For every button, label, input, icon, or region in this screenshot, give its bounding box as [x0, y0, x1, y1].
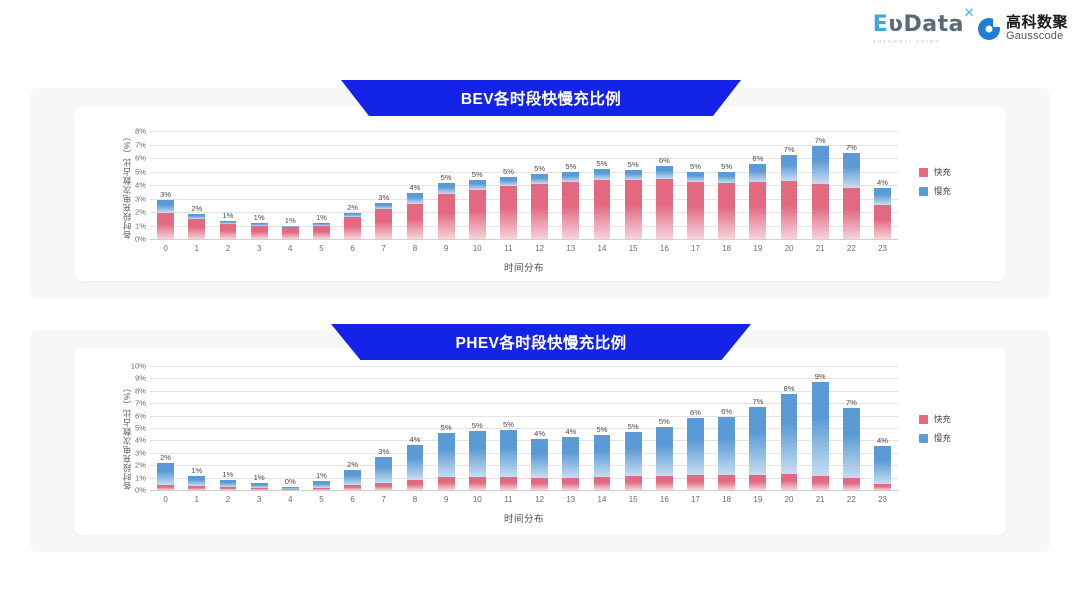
- bar-segment-fast-charge[interactable]: [874, 205, 891, 239]
- bar-column[interactable]: 1%2: [212, 366, 243, 490]
- x-tick-label: 1: [195, 244, 199, 253]
- bar-value-label: 1%: [285, 216, 296, 225]
- stacked-bar[interactable]: 5%: [656, 427, 673, 490]
- stacked-bar[interactable]: 5%: [438, 183, 455, 239]
- bar-column[interactable]: 4%23: [867, 366, 898, 490]
- bar-column[interactable]: 5%18: [711, 131, 742, 239]
- phev-bar-group: 2%01%11%21%30%41%52%63%74%85%95%105%114%…: [150, 366, 898, 490]
- stacked-bar[interactable]: 5%: [469, 431, 486, 490]
- bar-value-label: 3%: [378, 193, 389, 202]
- bar-segment-fast-charge[interactable]: [282, 489, 299, 490]
- bar-segment-slow-charge[interactable]: [749, 407, 766, 475]
- bar-segment-slow-charge[interactable]: [375, 457, 392, 482]
- slide-canvas: EʋData✕ shanghai china 高科数聚 Gausscode 各时…: [0, 0, 1080, 608]
- bar-segment-fast-charge[interactable]: [812, 184, 829, 239]
- x-tick-label: 19: [753, 244, 762, 253]
- bar-value-label: 4%: [534, 429, 545, 438]
- bar-column[interactable]: 2%1: [181, 131, 212, 239]
- bar-segment-fast-charge[interactable]: [220, 224, 237, 239]
- x-tick-label: 23: [878, 495, 887, 504]
- bar-segment-fast-charge[interactable]: [843, 478, 860, 490]
- phev-title-text: PHEV各时段快慢充比例: [455, 331, 626, 353]
- bar-segment-fast-charge[interactable]: [251, 488, 268, 490]
- bar-value-label: 4%: [877, 436, 888, 445]
- bar-segment-slow-charge[interactable]: [188, 476, 205, 487]
- bar-column[interactable]: 5%14: [586, 366, 617, 490]
- evdata-word-b: ʋData: [888, 12, 964, 37]
- x-tick-label: 13: [566, 244, 575, 253]
- bar-segment-fast-charge[interactable]: [718, 475, 735, 490]
- bar-segment-slow-charge[interactable]: [500, 177, 517, 186]
- bar-segment-fast-charge[interactable]: [313, 226, 330, 240]
- x-tick-label: 21: [816, 244, 825, 253]
- bar-column[interactable]: 5%11: [493, 366, 524, 490]
- x-tick-label: 12: [535, 495, 544, 504]
- gausscode-wordmark: 高科数聚 Gausscode: [1006, 15, 1068, 42]
- bar-segment-fast-charge[interactable]: [531, 184, 548, 239]
- bar-segment-fast-charge[interactable]: [500, 477, 517, 490]
- stacked-bar[interactable]: 5%: [594, 169, 611, 239]
- legend-item[interactable]: 慢充: [919, 432, 951, 444]
- bar-segment-fast-charge[interactable]: [687, 475, 704, 490]
- stacked-bar[interactable]: 6%: [718, 417, 735, 490]
- bar-column[interactable]: 6%16: [649, 131, 680, 239]
- bar-column[interactable]: 5%13: [555, 131, 586, 239]
- bar-segment-slow-charge[interactable]: [843, 153, 860, 188]
- bar-value-label: 5%: [441, 173, 452, 182]
- bar-column[interactable]: 6%19: [742, 131, 773, 239]
- bev-y-tick-label: 3%: [135, 194, 146, 203]
- phev-gridline: 0%: [150, 490, 898, 491]
- bev-y-tick-label: 2%: [135, 208, 146, 217]
- legend-swatch-icon: [919, 187, 928, 196]
- bar-segment-slow-charge[interactable]: [313, 481, 330, 488]
- bar-value-label: 2%: [160, 453, 171, 462]
- legend-swatch-icon: [919, 434, 928, 443]
- bar-segment-fast-charge[interactable]: [438, 477, 455, 490]
- bar-segment-slow-charge[interactable]: [718, 172, 735, 183]
- bar-segment-slow-charge[interactable]: [812, 146, 829, 184]
- stacked-bar[interactable]: 5%: [562, 172, 579, 240]
- stacked-bar[interactable]: 4%: [874, 188, 891, 239]
- x-tick-label: 7: [382, 244, 386, 253]
- x-tick-label: 11: [504, 495, 512, 504]
- bar-segment-fast-charge[interactable]: [157, 213, 174, 239]
- bar-value-label: 1%: [222, 470, 233, 479]
- phev-legend: 快充慢充: [919, 413, 951, 444]
- bar-segment-fast-charge[interactable]: [407, 204, 424, 239]
- bar-column[interactable]: 1%3: [244, 366, 275, 490]
- bar-segment-fast-charge[interactable]: [625, 180, 642, 239]
- x-tick-label: 6: [350, 495, 354, 504]
- bar-segment-fast-charge[interactable]: [594, 180, 611, 239]
- x-tick-label: 20: [785, 244, 794, 253]
- x-tick-label: 0: [163, 244, 167, 253]
- bar-value-label: 5%: [721, 162, 732, 171]
- bar-column[interactable]: 8%20: [773, 366, 804, 490]
- x-tick-label: 5: [319, 495, 323, 504]
- x-tick-label: 10: [473, 244, 482, 253]
- bar-column[interactable]: 1%5: [306, 131, 337, 239]
- gausscode-name-cn: 高科数聚: [1006, 15, 1068, 31]
- stacked-bar[interactable]: 5%: [594, 435, 611, 490]
- stacked-bar[interactable]: 5%: [438, 433, 455, 490]
- bar-segment-fast-charge[interactable]: [656, 476, 673, 490]
- x-tick-label: 22: [847, 244, 856, 253]
- legend-label: 快充: [934, 413, 951, 425]
- bar-value-label: 8%: [784, 384, 795, 393]
- bev-chart-card: 各时段充电次数占比（%）8%7%6%5%4%3%2%1%0%3%02%11%21…: [74, 106, 1006, 281]
- bar-column[interactable]: 1%4: [275, 131, 306, 239]
- bar-column[interactable]: 6%18: [711, 366, 742, 490]
- bar-segment-fast-charge[interactable]: [656, 179, 673, 239]
- bar-segment-fast-charge[interactable]: [438, 194, 455, 239]
- stacked-bar[interactable]: 4%: [531, 439, 548, 490]
- bar-segment-fast-charge[interactable]: [749, 475, 766, 491]
- bar-value-label: 2%: [347, 203, 358, 212]
- bar-column[interactable]: 5%12: [524, 131, 555, 239]
- bar-segment-fast-charge[interactable]: [749, 182, 766, 239]
- bar-value-label: 5%: [441, 423, 452, 432]
- evdata-x-icon: ✕: [964, 7, 975, 20]
- stacked-bar[interactable]: 1%: [251, 483, 268, 490]
- bar-segment-fast-charge[interactable]: [625, 476, 642, 490]
- bar-segment-fast-charge[interactable]: [874, 484, 891, 490]
- bar-segment-fast-charge[interactable]: [282, 227, 299, 239]
- stacked-bar[interactable]: 1%: [220, 221, 237, 239]
- bar-segment-slow-charge[interactable]: [656, 166, 673, 179]
- bar-segment-fast-charge[interactable]: [781, 181, 798, 239]
- bar-segment-fast-charge[interactable]: [562, 182, 579, 239]
- bar-column[interactable]: 6%17: [680, 366, 711, 490]
- bar-column[interactable]: 5%9: [431, 131, 462, 239]
- bar-column[interactable]: 3%0: [150, 131, 181, 239]
- bev-legend: 快充慢充: [919, 166, 951, 197]
- bar-value-label: 6%: [752, 154, 763, 163]
- stacked-bar[interactable]: 8%: [781, 394, 798, 490]
- bar-column[interactable]: 5%17: [680, 131, 711, 239]
- bar-segment-slow-charge[interactable]: [749, 164, 766, 182]
- bar-value-label: 6%: [659, 156, 670, 165]
- stacked-bar[interactable]: 5%: [687, 172, 704, 240]
- x-tick-label: 20: [785, 495, 794, 504]
- x-tick-label: 10: [473, 495, 482, 504]
- bar-value-label: 6%: [721, 407, 732, 416]
- bar-segment-slow-charge[interactable]: [687, 172, 704, 183]
- bar-column[interactable]: 5%10: [462, 131, 493, 239]
- stacked-bar[interactable]: 1%: [220, 480, 237, 490]
- bar-segment-slow-charge[interactable]: [656, 427, 673, 476]
- bev-chart: 各时段充电次数占比（%）8%7%6%5%4%3%2%1%0%3%02%11%21…: [74, 106, 1006, 281]
- bar-column[interactable]: 2%6: [337, 366, 368, 490]
- bar-column[interactable]: 5%15: [618, 366, 649, 490]
- bar-value-label: 3%: [160, 190, 171, 199]
- legend-item[interactable]: 快充: [919, 413, 951, 425]
- stacked-bar[interactable]: 5%: [469, 180, 486, 239]
- phev-y-tick-label: 2%: [135, 461, 146, 470]
- bar-segment-slow-charge[interactable]: [438, 433, 455, 477]
- legend-label: 慢充: [934, 432, 951, 444]
- stacked-bar[interactable]: 4%: [407, 193, 424, 239]
- bar-value-label: 2%: [191, 204, 202, 213]
- stacked-bar[interactable]: 0%: [282, 487, 299, 490]
- legend-label: 慢充: [934, 185, 951, 197]
- bar-segment-slow-charge[interactable]: [874, 446, 891, 484]
- bar-column[interactable]: 3%7: [368, 131, 399, 239]
- bar-segment-slow-charge[interactable]: [781, 155, 798, 181]
- bar-segment-fast-charge[interactable]: [407, 480, 424, 490]
- stacked-bar[interactable]: 9%: [812, 382, 829, 490]
- bar-segment-slow-charge[interactable]: [874, 188, 891, 204]
- bev-y-tick-label: 0%: [135, 235, 146, 244]
- bar-column[interactable]: 9%21: [805, 366, 836, 490]
- bar-column[interactable]: 7%22: [836, 131, 867, 239]
- bar-segment-fast-charge[interactable]: [718, 183, 735, 239]
- stacked-bar[interactable]: 3%: [375, 457, 392, 490]
- bar-column[interactable]: 2%0: [150, 366, 181, 490]
- bar-value-label: 5%: [472, 170, 483, 179]
- x-tick-label: 8: [413, 495, 417, 504]
- bar-segment-slow-charge[interactable]: [344, 470, 361, 485]
- stacked-bar[interactable]: 2%: [344, 213, 361, 239]
- phev-y-tick-label: 7%: [135, 399, 146, 408]
- bar-segment-fast-charge[interactable]: [812, 476, 829, 490]
- bar-segment-slow-charge[interactable]: [157, 200, 174, 213]
- bar-column[interactable]: 1%3: [244, 131, 275, 239]
- stacked-bar[interactable]: 3%: [375, 203, 392, 239]
- stacked-bar[interactable]: 5%: [500, 177, 517, 239]
- bar-segment-slow-charge[interactable]: [157, 463, 174, 485]
- x-tick-label: 13: [566, 495, 575, 504]
- x-tick-label: 2: [226, 244, 230, 253]
- bar-column[interactable]: 0%4: [275, 366, 306, 490]
- bar-value-label: 1%: [316, 471, 327, 480]
- x-tick-label: 14: [598, 244, 607, 253]
- bar-segment-fast-charge[interactable]: [843, 188, 860, 239]
- bar-column[interactable]: 5%14: [586, 131, 617, 239]
- legend-item[interactable]: 快充: [919, 166, 951, 178]
- stacked-bar[interactable]: 4%: [562, 437, 579, 490]
- stacked-bar[interactable]: 2%: [157, 463, 174, 490]
- bar-value-label: 1%: [191, 466, 202, 475]
- stacked-bar[interactable]: 7%: [749, 407, 766, 490]
- bar-value-label: 5%: [628, 160, 639, 169]
- bev-gridline: 0%: [150, 239, 898, 240]
- phev-y-axis-title: 各时段充电次数占比（%）: [121, 366, 133, 490]
- bar-segment-slow-charge[interactable]: [625, 432, 642, 477]
- x-tick-label: 5: [319, 244, 323, 253]
- bar-segment-fast-charge[interactable]: [344, 485, 361, 490]
- bar-segment-slow-charge[interactable]: [469, 431, 486, 477]
- bar-value-label: 5%: [659, 417, 670, 426]
- bar-value-label: 4%: [877, 178, 888, 187]
- bar-value-label: 7%: [752, 397, 763, 406]
- bar-segment-fast-charge[interactable]: [594, 477, 611, 490]
- stacked-bar[interactable]: 6%: [656, 166, 673, 239]
- x-tick-label: 2: [226, 495, 230, 504]
- bar-segment-slow-charge[interactable]: [438, 183, 455, 194]
- evdata-tagline: shanghai china: [873, 39, 941, 44]
- x-tick-label: 19: [753, 495, 762, 504]
- stacked-bar[interactable]: 5%: [500, 430, 517, 490]
- stacked-bar[interactable]: 2%: [344, 470, 361, 490]
- bar-segment-fast-charge[interactable]: [220, 487, 237, 490]
- bar-value-label: 2%: [347, 460, 358, 469]
- gausscode-logo: 高科数聚 Gausscode: [978, 15, 1068, 42]
- bar-segment-fast-charge[interactable]: [251, 226, 268, 239]
- bar-column[interactable]: 2%6: [337, 131, 368, 239]
- bar-column[interactable]: 4%8: [399, 131, 430, 239]
- bar-column[interactable]: 7%20: [773, 131, 804, 239]
- phev-y-tick-label: 0%: [135, 486, 146, 495]
- bar-segment-fast-charge[interactable]: [781, 474, 798, 490]
- bar-value-label: 7%: [846, 143, 857, 152]
- bar-value-label: 7%: [815, 136, 826, 145]
- bar-segment-slow-charge[interactable]: [718, 417, 735, 475]
- legend-swatch-icon: [919, 415, 928, 424]
- bar-value-label: 3%: [378, 447, 389, 456]
- bar-value-label: 1%: [254, 473, 265, 482]
- bar-segment-slow-charge[interactable]: [562, 437, 579, 477]
- stacked-bar[interactable]: 5%: [718, 172, 735, 240]
- bar-column[interactable]: 7%19: [742, 366, 773, 490]
- bar-value-label: 5%: [565, 162, 576, 171]
- bar-column[interactable]: 1%5: [306, 366, 337, 490]
- bar-value-label: 1%: [222, 211, 233, 220]
- bar-segment-slow-charge[interactable]: [407, 445, 424, 480]
- bar-segment-fast-charge[interactable]: [562, 478, 579, 490]
- stacked-bar[interactable]: 4%: [407, 445, 424, 491]
- bev-title-banner: BEV各时段快慢充比例: [341, 80, 741, 116]
- bar-segment-slow-charge[interactable]: [843, 408, 860, 477]
- bar-segment-fast-charge[interactable]: [375, 209, 392, 239]
- bar-segment-fast-charge[interactable]: [469, 477, 486, 490]
- bev-bar-group: 3%02%11%21%31%41%52%63%74%85%95%105%115%…: [150, 131, 898, 239]
- bar-segment-slow-charge[interactable]: [594, 169, 611, 179]
- stacked-bar[interactable]: 7%: [781, 155, 798, 239]
- stacked-bar[interactable]: 7%: [812, 146, 829, 239]
- bar-value-label: 7%: [784, 145, 795, 154]
- phev-y-tick-label: 8%: [135, 386, 146, 395]
- phev-y-tick-label: 3%: [135, 448, 146, 457]
- bar-segment-fast-charge[interactable]: [531, 478, 548, 490]
- stacked-bar[interactable]: 5%: [625, 170, 642, 239]
- bar-segment-slow-charge[interactable]: [531, 439, 548, 478]
- x-tick-label: 7: [382, 495, 386, 504]
- bev-y-tick-label: 8%: [135, 127, 146, 136]
- stacked-bar[interactable]: 2%: [188, 214, 205, 239]
- x-tick-label: 0: [163, 495, 167, 504]
- phev-chart: 各时段充电次数占比（%）10%9%8%7%6%5%4%3%2%1%0%2%01%…: [74, 348, 1006, 535]
- bar-segment-slow-charge[interactable]: [531, 174, 548, 184]
- bar-value-label: 0%: [285, 477, 296, 486]
- bar-column[interactable]: 5%15: [618, 131, 649, 239]
- bar-segment-slow-charge[interactable]: [469, 180, 486, 190]
- bar-column[interactable]: 4%13: [555, 366, 586, 490]
- bar-segment-slow-charge[interactable]: [594, 435, 611, 477]
- bar-segment-fast-charge[interactable]: [375, 483, 392, 490]
- bev-x-axis-title: 时间分布: [150, 260, 898, 274]
- bar-segment-slow-charge[interactable]: [407, 193, 424, 204]
- bev-y-tick-label: 4%: [135, 181, 146, 190]
- phev-y-tick-label: 1%: [135, 473, 146, 482]
- bar-segment-fast-charge[interactable]: [313, 488, 330, 490]
- bar-column[interactable]: 5%9: [431, 366, 462, 490]
- bar-column[interactable]: 4%8: [399, 366, 430, 490]
- x-tick-label: 9: [444, 495, 448, 504]
- bev-plot-area: 8%7%6%5%4%3%2%1%0%3%02%11%21%31%41%52%63…: [150, 131, 898, 239]
- gausscode-name-en: Gausscode: [1006, 31, 1068, 43]
- x-tick-label: 21: [816, 495, 825, 504]
- x-tick-label: 9: [444, 244, 448, 253]
- bar-value-label: 5%: [596, 425, 607, 434]
- stacked-bar[interactable]: 4%: [874, 446, 891, 490]
- x-tick-label: 22: [847, 495, 856, 504]
- bar-segment-slow-charge[interactable]: [220, 480, 237, 487]
- bar-column[interactable]: 5%10: [462, 366, 493, 490]
- bar-value-label: 6%: [690, 408, 701, 417]
- bar-segment-slow-charge[interactable]: [781, 394, 798, 474]
- x-tick-label: 11: [504, 244, 512, 253]
- bar-column[interactable]: 4%12: [524, 366, 555, 490]
- bar-column[interactable]: 1%2: [212, 131, 243, 239]
- bar-segment-slow-charge[interactable]: [812, 382, 829, 476]
- bar-column[interactable]: 5%16: [649, 366, 680, 490]
- bar-segment-fast-charge[interactable]: [687, 182, 704, 239]
- x-tick-label: 1: [195, 495, 199, 504]
- bar-segment-fast-charge[interactable]: [157, 485, 174, 490]
- bar-segment-slow-charge[interactable]: [562, 172, 579, 183]
- x-tick-label: 15: [629, 495, 638, 504]
- stacked-bar[interactable]: 7%: [843, 153, 860, 239]
- bar-segment-fast-charge[interactable]: [344, 217, 361, 239]
- bar-column[interactable]: 3%7: [368, 366, 399, 490]
- bar-column[interactable]: 5%11: [493, 131, 524, 239]
- bar-column[interactable]: 7%21: [805, 131, 836, 239]
- legend-item[interactable]: 慢充: [919, 185, 951, 197]
- bar-segment-slow-charge[interactable]: [375, 203, 392, 210]
- stacked-bar[interactable]: 6%: [749, 164, 766, 239]
- stacked-bar[interactable]: 6%: [687, 418, 704, 490]
- stacked-bar[interactable]: 5%: [531, 174, 548, 239]
- stacked-bar[interactable]: 1%: [313, 481, 330, 490]
- stacked-bar[interactable]: 1%: [188, 476, 205, 490]
- phev-y-tick-label: 9%: [135, 374, 146, 383]
- stacked-bar[interactable]: 5%: [625, 432, 642, 490]
- stacked-bar[interactable]: 1%: [251, 223, 268, 239]
- bar-segment-fast-charge[interactable]: [188, 219, 205, 239]
- bar-column[interactable]: 7%22: [836, 366, 867, 490]
- bev-y-tick-label: 5%: [135, 167, 146, 176]
- bar-segment-fast-charge[interactable]: [469, 190, 486, 239]
- bar-value-label: 5%: [596, 159, 607, 168]
- bar-value-label: 4%: [409, 183, 420, 192]
- bar-segment-fast-charge[interactable]: [500, 186, 517, 239]
- stacked-bar[interactable]: 1%: [313, 223, 330, 239]
- bar-segment-fast-charge[interactable]: [188, 486, 205, 490]
- stacked-bar[interactable]: 1%: [282, 226, 299, 240]
- bar-segment-slow-charge[interactable]: [500, 430, 517, 477]
- bar-value-label: 4%: [565, 427, 576, 436]
- x-tick-label: 18: [722, 244, 731, 253]
- bar-column[interactable]: 4%23: [867, 131, 898, 239]
- bar-column[interactable]: 1%1: [181, 366, 212, 490]
- stacked-bar[interactable]: 3%: [157, 200, 174, 239]
- stacked-bar[interactable]: 7%: [843, 408, 860, 490]
- bar-segment-slow-charge[interactable]: [625, 170, 642, 180]
- phev-plot-area: 10%9%8%7%6%5%4%3%2%1%0%2%01%11%21%30%41%…: [150, 366, 898, 490]
- bar-segment-slow-charge[interactable]: [687, 418, 704, 475]
